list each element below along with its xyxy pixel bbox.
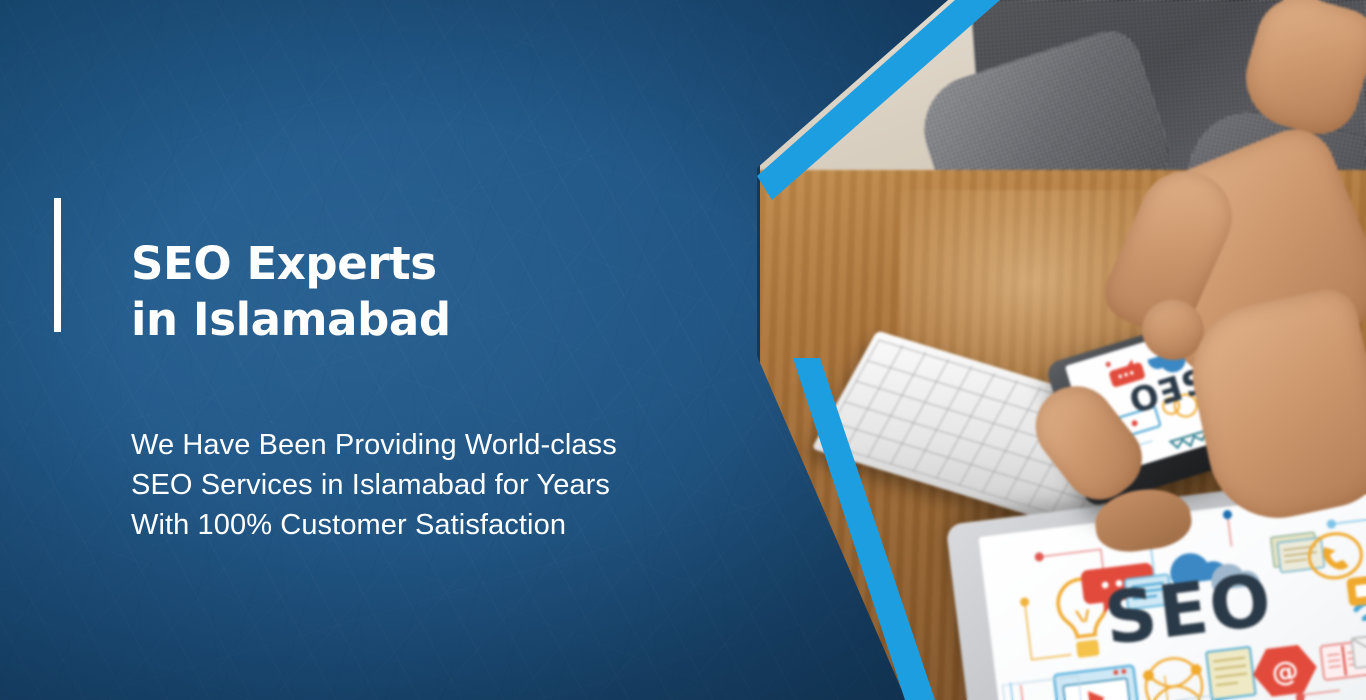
page-title-line-2: in Islamabad (131, 292, 751, 348)
page-title: SEO Experts in Islamabad (131, 236, 751, 348)
hero-banner: SEO @ (0, 0, 1366, 700)
page-subtitle-line-1: We Have Been Providing World-class (131, 425, 791, 465)
page-title-line-1: SEO Experts (131, 236, 751, 292)
page-subtitle: We Have Been Providing World-class SEO S… (131, 425, 791, 545)
white-accent-bar (54, 198, 61, 332)
page-subtitle-line-3: With 100% Customer Satisfaction (131, 505, 791, 545)
page-subtitle-line-2: SEO Services in Islamabad for Years (131, 465, 791, 505)
